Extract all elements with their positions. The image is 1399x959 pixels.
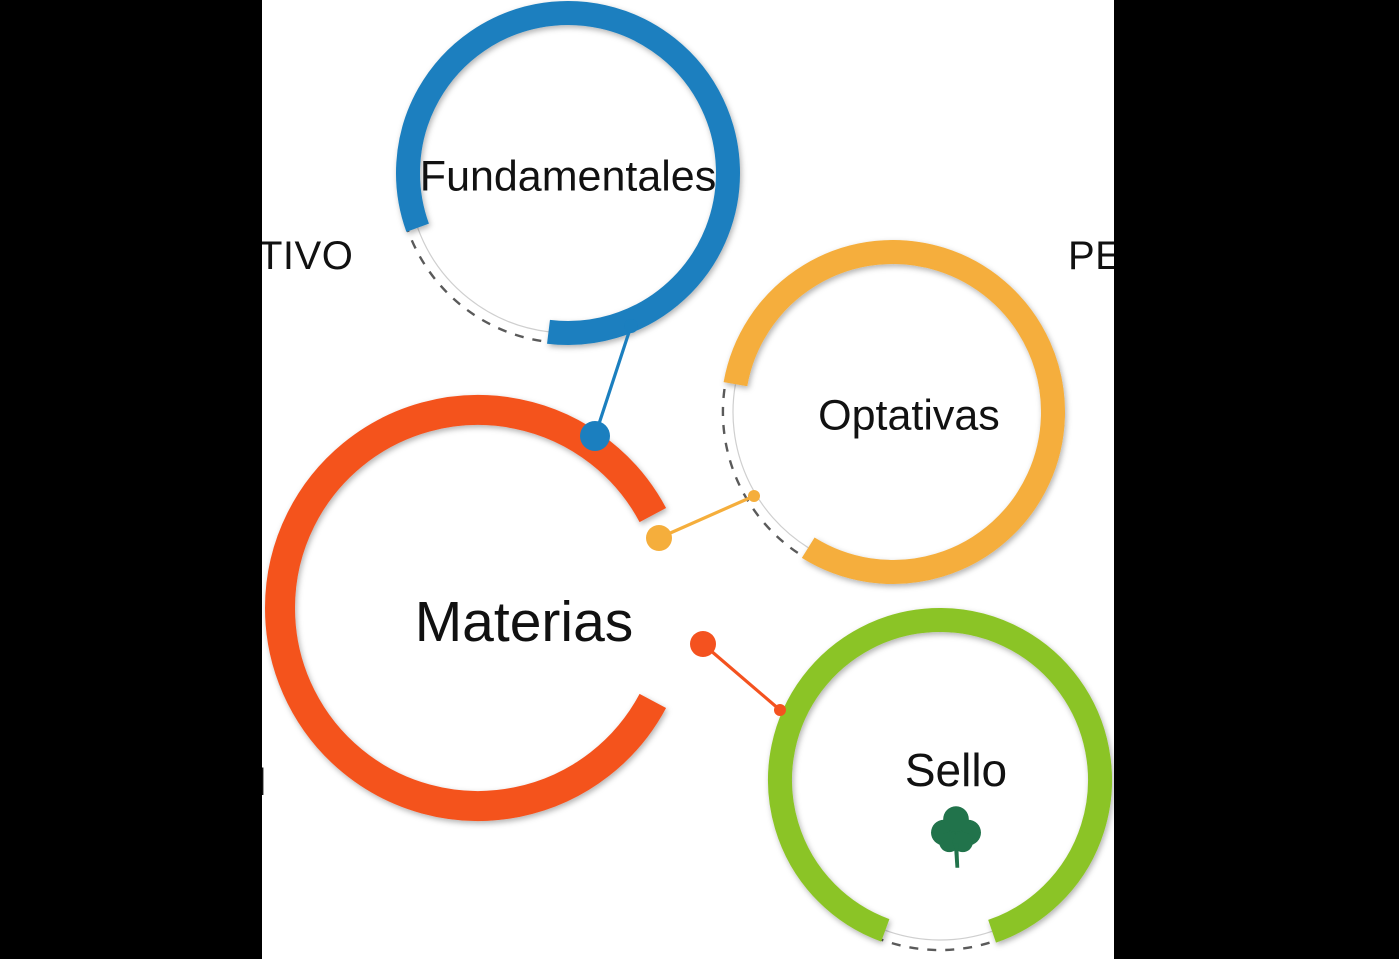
connector-materias-sello-target-dot[interactable]: [774, 704, 786, 716]
connector-materias-optativas-origin-dot[interactable]: [646, 525, 672, 551]
ring-icon-group: [931, 806, 981, 867]
connector-materias-sello-line: [703, 644, 780, 710]
ring-diagram-svg: FundamentalesOptativasMateriasSello: [262, 0, 1114, 959]
connector-materias-fundamentales-origin-dot[interactable]: [580, 421, 610, 451]
ring-label-sello: Sello: [905, 744, 1007, 796]
connector-materias-fundamentales-target-dot[interactable]: [624, 319, 638, 333]
white-content-panel: TIVO PE FundamentalesOptativasMateriasSe…: [262, 0, 1114, 959]
thin-gap-arc-optativas: [733, 384, 808, 547]
clover-icon: [931, 806, 981, 867]
dashed-gap-arc-fundamentales: [405, 220, 560, 343]
connector-materias-optativas-target-dot[interactable]: [748, 490, 760, 502]
thin-gap-arcs: [418, 228, 992, 940]
connector-materias-optativas-line: [659, 496, 754, 538]
clipped-text-bottom-stub: I: [262, 762, 268, 802]
ring-label-fundamentales: Fundamentales: [420, 152, 716, 200]
dashed-gap-arc-sello: [871, 935, 1007, 950]
thin-gap-arc-fundamentales: [418, 228, 549, 332]
diagram-canvas: TIVO PE FundamentalesOptativasMateriasSe…: [0, 0, 1399, 959]
ring-label-materias: Materias: [415, 590, 634, 654]
dashed-gap-arcs: [405, 220, 1007, 950]
thin-gap-arc-sello: [885, 930, 992, 940]
connector-materias-sello-origin-dot[interactable]: [690, 631, 716, 657]
dashed-gap-arc-optativas: [723, 371, 813, 562]
ring-label-optativas: Optativas: [818, 391, 1000, 439]
connector-group: [580, 319, 786, 716]
connector-materias-fundamentales-line: [595, 326, 631, 436]
